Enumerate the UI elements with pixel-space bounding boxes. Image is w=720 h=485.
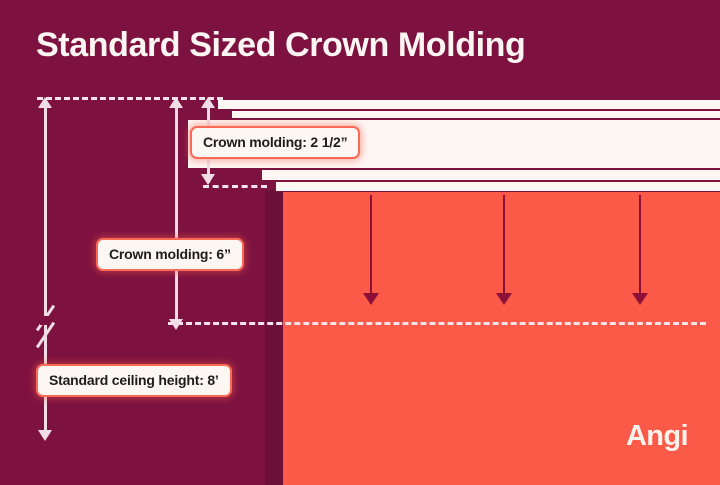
label-crown-molding-small: Crown molding: 2 1/2” (190, 126, 360, 159)
ceiling-arrow-down-icon (38, 430, 52, 441)
wall-pointer-line-1 (370, 195, 372, 295)
label-standard-ceiling-height: Standard ceiling height: 8’ (36, 364, 232, 397)
molding-band-2 (232, 110, 720, 119)
small-molding-guide-line (203, 185, 267, 188)
molding-band-4 (262, 169, 720, 181)
crown-molding-infographic: Standard Sized Crown Molding Crown moldi… (0, 0, 720, 485)
molding-band-5 (276, 181, 720, 192)
large-molding-dimension-line (175, 100, 178, 322)
small-molding-arrow-down-icon (201, 174, 215, 185)
break-gap (40, 316, 51, 325)
wall-pointer-line-3 (639, 195, 641, 295)
angi-logo: Angi (626, 420, 688, 453)
wall-pointer-arrow-icon-1 (363, 293, 379, 305)
ceiling-arrow-up-icon (38, 97, 52, 108)
molding-band-1 (218, 99, 720, 110)
molding-bottom-guide-line (168, 322, 706, 325)
crown-molding-profile (0, 0, 720, 200)
ceiling-guide-line (37, 97, 223, 100)
large-molding-arrow-down-icon (169, 319, 183, 330)
small-molding-arrow-up-icon (201, 97, 215, 108)
wall-pointer-arrow-icon-3 (632, 293, 648, 305)
wall-pointer-line-2 (503, 195, 505, 295)
wall-pointer-arrow-icon-2 (496, 293, 512, 305)
label-crown-molding-large: Crown molding: 6” (96, 238, 244, 271)
large-molding-arrow-up-icon (169, 97, 183, 108)
wall-shadow-strip (265, 190, 285, 485)
